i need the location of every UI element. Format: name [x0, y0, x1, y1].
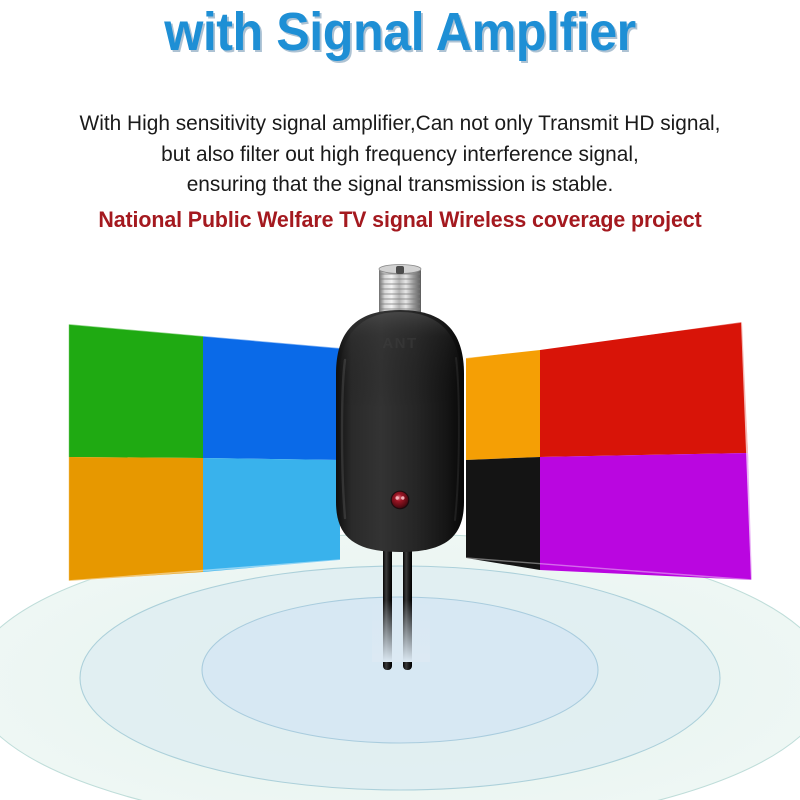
description-paragraph: With High sensitivity signal amplifier,C… [61, 108, 740, 200]
amplifier-logo-text: ANT [382, 335, 417, 352]
right-panel-red-cell [540, 322, 748, 457]
right-panel-magenta-cell [540, 453, 752, 580]
left-panel-lightblue-cell [203, 458, 340, 572]
product-banner: with Signal Amplfier With High sensitivi… [0, 0, 800, 800]
status-led-glint-left [396, 496, 399, 499]
left-panel-orange-cell [68, 457, 203, 581]
left-color-panel [68, 324, 340, 581]
right-color-panel [466, 322, 752, 580]
left-panel-blue-cell [203, 336, 340, 460]
connector-center-pin [396, 266, 404, 274]
description-line-3: ensuring that the signal transmission is… [61, 169, 740, 200]
headline-title: with Signal Amplfier [28, 4, 772, 61]
tagline-text: National Public Welfare TV signal Wirele… [20, 207, 780, 233]
product-illustration: ANT [0, 250, 800, 800]
left-panel-green-cell [68, 324, 203, 458]
right-panel-black-cell [466, 457, 540, 570]
status-led-glint-right [401, 496, 404, 499]
description-line-2: but also filter out high frequency inter… [61, 139, 740, 170]
amplifier-body: ANT [336, 310, 464, 552]
amplifier-top-shine [340, 312, 460, 410]
cable-bottom-fade [372, 600, 430, 662]
description-line-1: With High sensitivity signal amplifier,C… [61, 108, 740, 139]
right-panel-orange-cell [466, 350, 540, 460]
